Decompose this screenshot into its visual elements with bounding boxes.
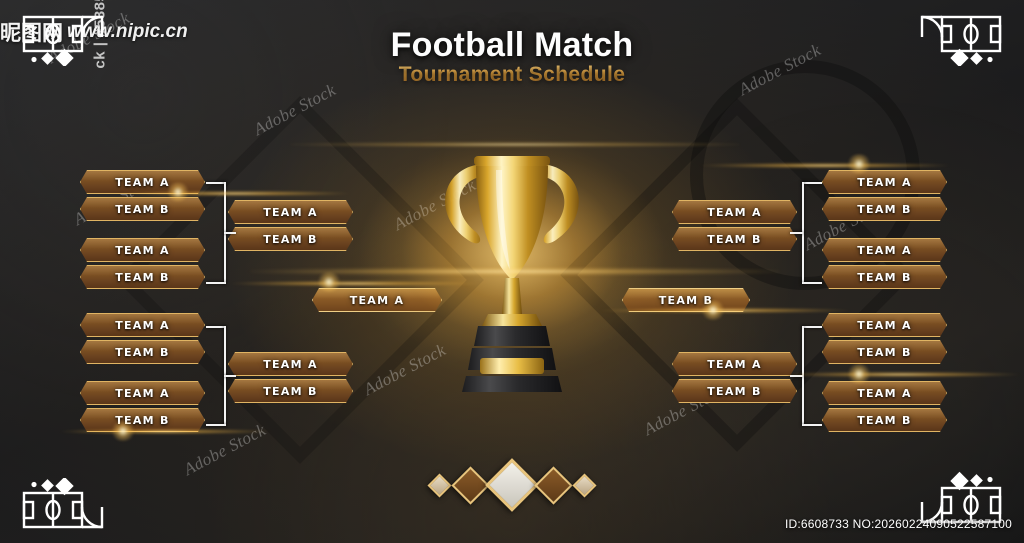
- team-plate[interactable]: TEAM A: [80, 381, 205, 405]
- team-plate[interactable]: TEAM A: [822, 170, 947, 194]
- bracket-connector: [796, 182, 820, 284]
- bracket-connector: [796, 326, 820, 426]
- team-plate[interactable]: TEAM B: [228, 379, 353, 403]
- team-plate[interactable]: TEAM A: [672, 352, 797, 376]
- team-plate[interactable]: TEAM B: [672, 379, 797, 403]
- team-plate[interactable]: TEAM A: [822, 313, 947, 337]
- team-plate[interactable]: TEAM B: [228, 227, 353, 251]
- team-plate[interactable]: TEAM A: [80, 238, 205, 262]
- page-subtitle: Tournament Schedule: [0, 63, 1024, 87]
- team-plate[interactable]: TEAM B: [80, 197, 205, 221]
- team-plate[interactable]: TEAM B: [672, 227, 797, 251]
- poster-header: Football Match Tournament Schedule: [0, 26, 1024, 87]
- diamond-icon: [572, 473, 596, 497]
- team-plate[interactable]: TEAM B: [80, 408, 205, 432]
- diamond-icon: [451, 466, 489, 504]
- bracket-connector: [206, 182, 230, 284]
- glow-streak: [700, 163, 950, 168]
- team-plate[interactable]: TEAM A: [822, 381, 947, 405]
- glow-streak: [780, 372, 1020, 377]
- diamond-icon: [534, 466, 572, 504]
- page-title: Football Match: [0, 26, 1024, 65]
- team-plate[interactable]: TEAM A: [80, 170, 205, 194]
- team-plate[interactable]: TEAM B: [822, 340, 947, 364]
- diamond-icon: [427, 473, 451, 497]
- tournament-bracket-poster: Adobe Stock Adobe Stock Adobe Stock Adob…: [0, 0, 1024, 543]
- team-plate[interactable]: TEAM A: [228, 200, 353, 224]
- team-plate[interactable]: TEAM B: [822, 197, 947, 221]
- team-plate[interactable]: TEAM B: [822, 265, 947, 289]
- diamond-icon: [485, 458, 539, 512]
- team-plate[interactable]: TEAM B: [80, 265, 205, 289]
- bracket-connector: [206, 326, 230, 426]
- team-plate[interactable]: TEAM A: [228, 352, 353, 376]
- watermark-stock-id: ck | #538547464: [92, 0, 109, 109]
- team-plate[interactable]: TEAM B: [80, 340, 205, 364]
- trophy: [410, 120, 614, 400]
- team-plate[interactable]: TEAM A: [80, 313, 205, 337]
- team-plate[interactable]: TEAM A: [822, 238, 947, 262]
- image-id-line: ID:6608733 NO:20260224090522587100: [785, 517, 1012, 531]
- diamond-decoration-row: [0, 455, 1024, 515]
- team-plate-semifinal[interactable]: TEAM B: [622, 288, 750, 312]
- team-plate[interactable]: TEAM B: [822, 408, 947, 432]
- team-plate[interactable]: TEAM A: [672, 200, 797, 224]
- watermark-adobe-stock: Adobe Stock: [251, 80, 340, 140]
- football-pitch-icon-top-right: [916, 10, 1008, 71]
